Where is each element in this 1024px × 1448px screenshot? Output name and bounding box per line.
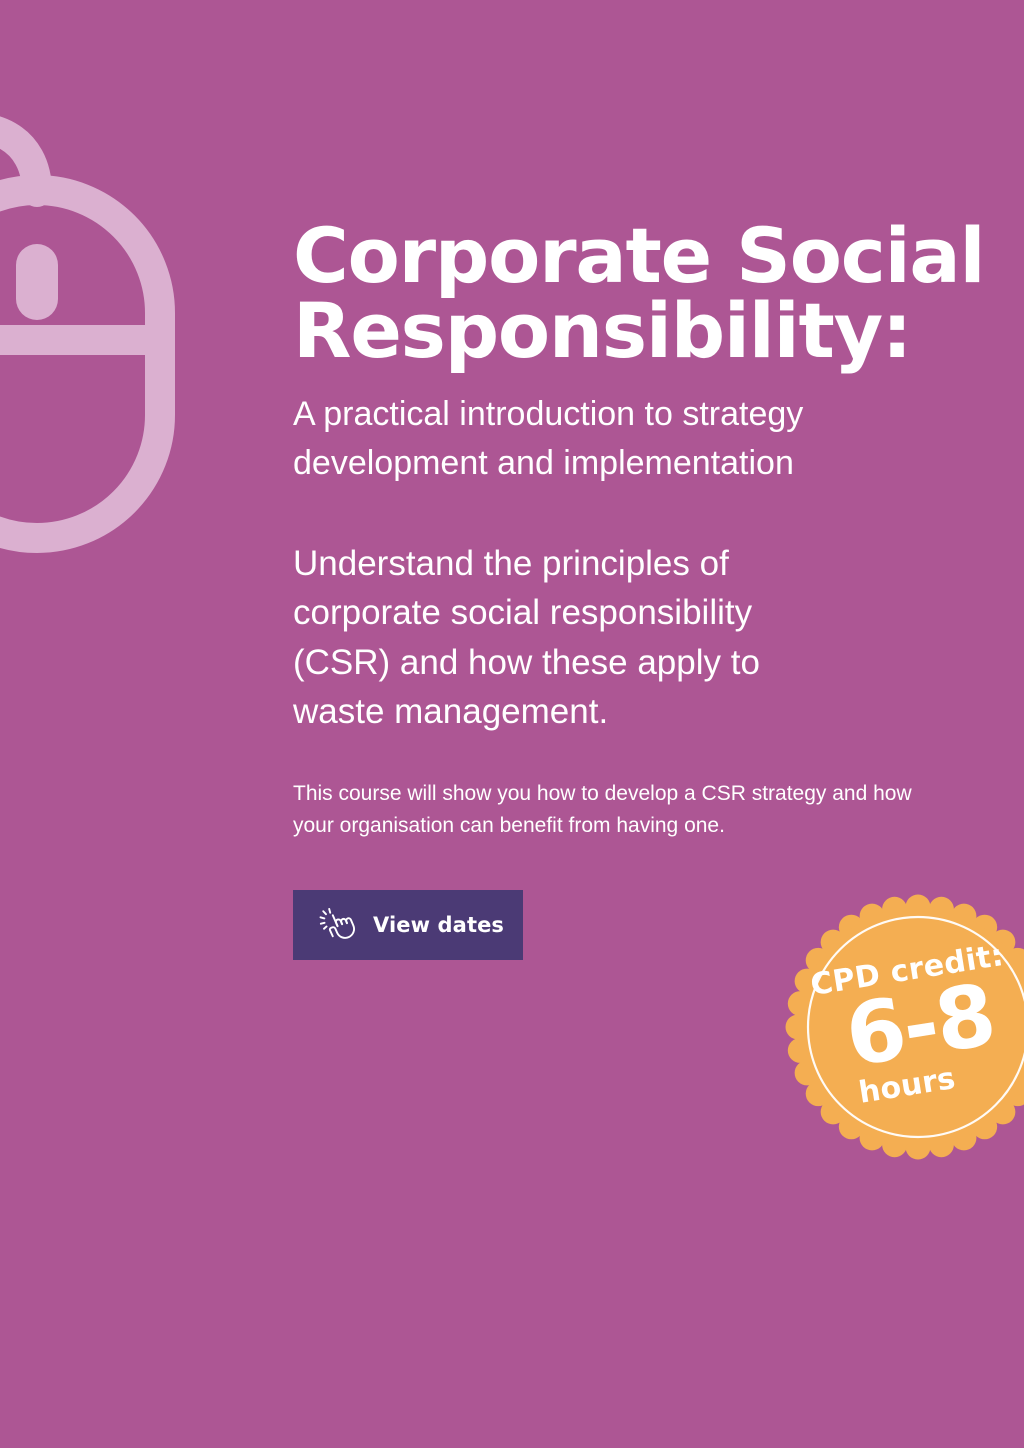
view-dates-button[interactable]: View dates <box>293 890 523 960</box>
view-dates-label: View dates <box>373 913 504 937</box>
course-description: This course will show you how to develop… <box>293 778 913 842</box>
hero-content: Corporate Social Responsibility: A pract… <box>293 0 993 960</box>
page-title-line-1: Corporate Social <box>293 218 993 293</box>
computer-mouse-icon <box>0 112 192 562</box>
page-title-line-2: Responsibility: <box>293 293 993 368</box>
cpd-credit-badge: CPD credit: 6-8 hours <box>784 893 1024 1161</box>
click-hand-icon <box>315 903 359 947</box>
course-lead-paragraph: Understand the principles of corporate s… <box>293 539 813 736</box>
page-subtitle: A practical introduction to strategy dev… <box>293 390 903 487</box>
page-title: Corporate Social Responsibility: <box>293 218 993 368</box>
